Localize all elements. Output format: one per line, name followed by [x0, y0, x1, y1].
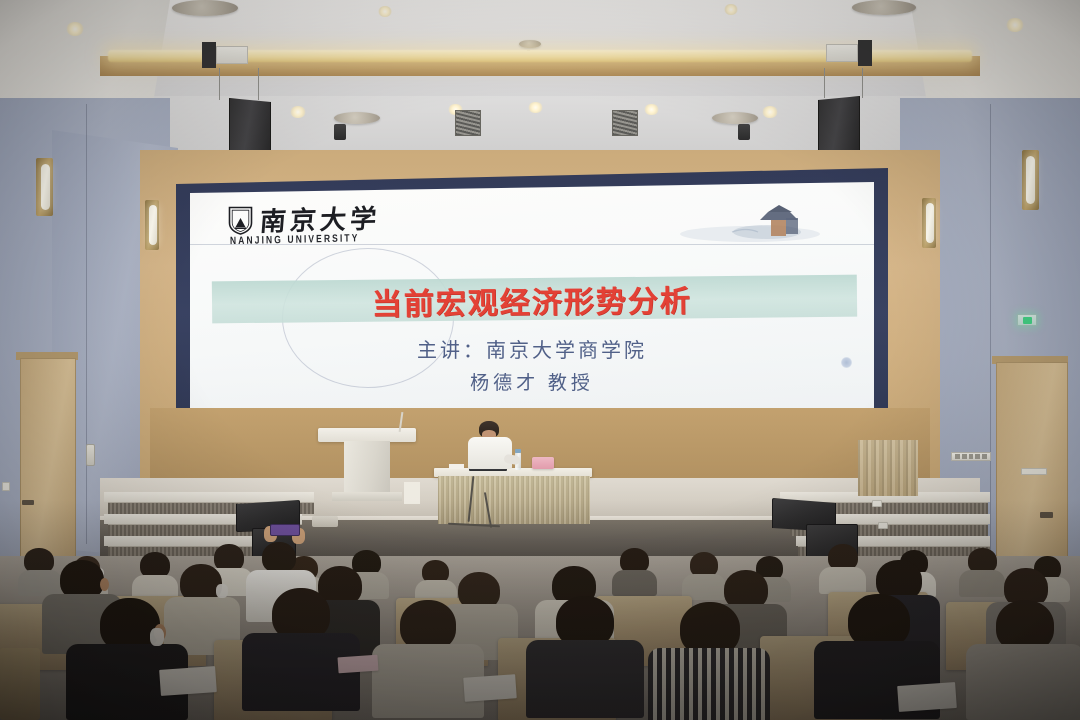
- lectern-paper: [404, 482, 420, 504]
- wall-sconce-left-inner-lamp: [149, 205, 157, 245]
- ceiling-pendant-speaker-left: [334, 124, 346, 140]
- wall-seam-left: [86, 104, 87, 544]
- downlight-icon: [66, 22, 84, 36]
- stage-small-props: [312, 516, 338, 527]
- right-door[interactable]: [996, 362, 1068, 568]
- lectern-column: [344, 441, 390, 497]
- downlight-icon: [644, 104, 659, 115]
- wall-seam-right: [990, 104, 991, 554]
- hvac-vent-grille: [455, 110, 481, 136]
- slide-subtitle-speaker-affiliation: 主讲：南京大学商学院: [190, 334, 874, 363]
- presenter-torso: [468, 437, 512, 469]
- ceiling-round-fixture: [852, 0, 916, 15]
- smartphone: [270, 524, 300, 536]
- slide-subtitle-speaker-name: 杨德才 教授: [190, 368, 874, 395]
- stage-curtain: [858, 440, 918, 496]
- speaker-suspension-wire: [862, 68, 863, 98]
- exit-sign-glyph: [1023, 317, 1032, 324]
- lectern-top: [318, 428, 416, 442]
- theater-seat-armrest: [0, 648, 40, 720]
- ceiling-equipment-box-left: [216, 46, 248, 64]
- handout-paper: [159, 666, 217, 696]
- ceiling-round-fixture: [334, 112, 380, 124]
- speaker-suspension-wire: [219, 68, 220, 100]
- speaker-table-skirt: [438, 476, 590, 524]
- hvac-vent-grille: [612, 110, 638, 136]
- projection-screen: 南京大学 NANJING UNIVERSITY 当前宏观经济形势分析 主讲：南京…: [190, 182, 874, 440]
- speaker-nameplate: [532, 457, 554, 469]
- downlight-icon: [528, 102, 543, 113]
- ceiling-smoke-detector: [519, 40, 541, 48]
- presentation-slide: 南京大学 NANJING UNIVERSITY 当前宏观经济形势分析 主讲：南京…: [190, 182, 874, 440]
- lectern-base: [332, 492, 402, 501]
- ceiling-round-fixture: [712, 112, 758, 124]
- right-door-handle[interactable]: [1040, 512, 1053, 518]
- ceiling-equipment-box-right: [826, 44, 858, 62]
- wall-switch-right-low[interactable]: [1021, 468, 1047, 475]
- speaker-suspension-wire: [258, 68, 259, 100]
- wall-outlet-strip-right[interactable]: [951, 452, 991, 461]
- nju-logo-chinese: 南京大学: [259, 206, 381, 235]
- screen-artifact-dot: [841, 357, 852, 368]
- downlight-icon: [378, 6, 392, 17]
- downlight-icon: [762, 106, 778, 118]
- wall-outlet-left: [2, 482, 10, 491]
- wall-sconce-left-outer-lamp: [41, 164, 50, 210]
- left-door-handle[interactable]: [22, 500, 34, 505]
- wall-sconce-right-outer-lamp: [1026, 156, 1035, 204]
- table-papers: [449, 464, 464, 469]
- left-door[interactable]: [20, 358, 76, 564]
- ceiling-speaker-small-right: [858, 40, 872, 66]
- handout-paper: [463, 674, 517, 702]
- ink-pavilion-watermark-icon: [672, 198, 822, 250]
- ceiling-speaker-small-left: [202, 42, 216, 68]
- downlight-icon: [290, 106, 306, 118]
- slide-title: 当前宏观经济形势分析: [190, 274, 874, 325]
- nju-shield-icon: [228, 206, 253, 235]
- wall-control-panel-left[interactable]: [86, 444, 95, 466]
- handout-paper: [897, 682, 957, 712]
- ceiling-pendant-speaker-right: [738, 124, 750, 140]
- ceiling-round-fixture: [172, 0, 238, 16]
- handout-paper: [337, 655, 378, 674]
- wall-sconce-right-inner-lamp: [926, 203, 934, 243]
- exit-sign: [1017, 314, 1037, 326]
- speaker-suspension-wire: [824, 68, 825, 98]
- step-light: [878, 522, 888, 529]
- step-light: [872, 500, 882, 507]
- water-bottle-cap: [515, 449, 521, 453]
- downlight-icon: [724, 4, 738, 15]
- auditorium-lecture-photo: 南京大学 NANJING UNIVERSITY 当前宏观经济形势分析 主讲：南京…: [0, 0, 1080, 720]
- downlight-icon: [1006, 18, 1024, 32]
